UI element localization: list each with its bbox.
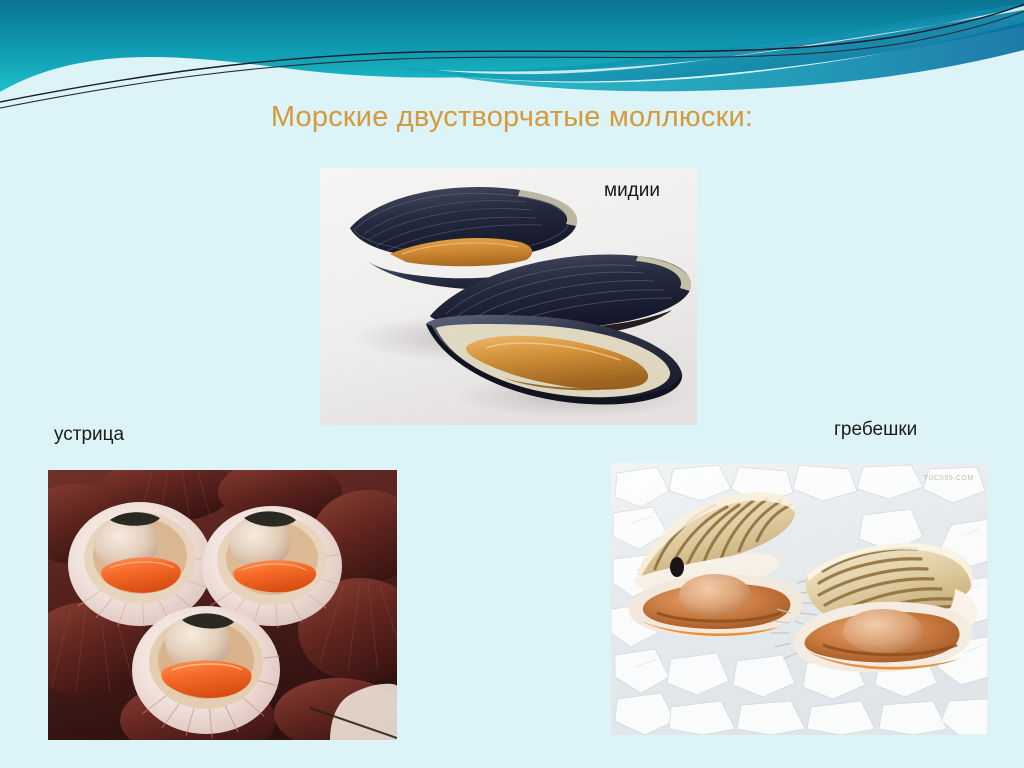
caption-scallops: гребешки [834, 419, 917, 441]
caption-oyster: устрица [54, 424, 124, 446]
photo-oyster [48, 470, 397, 740]
page-title: Морские двустворчатые моллюски: [0, 101, 1024, 134]
oyster-image-canvas [48, 470, 397, 740]
caption-mussels: мидии [604, 180, 660, 202]
photo-mussels [320, 168, 697, 425]
photo-scallops: TUC599.COM [611, 463, 988, 735]
mussels-image-canvas [320, 168, 697, 425]
presentation-slide: Морские двустворчатые моллюски: [0, 0, 1024, 768]
decorative-wave-banner [0, 0, 1024, 110]
scallops-image-canvas [611, 463, 988, 735]
